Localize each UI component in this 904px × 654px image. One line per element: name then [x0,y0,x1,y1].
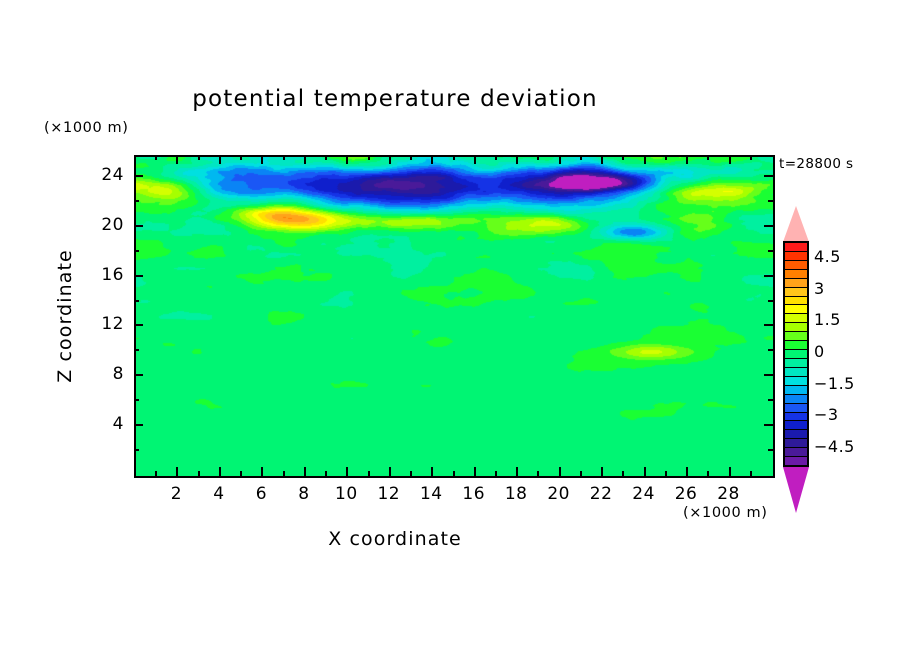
x-axis-title: X coordinate [0,528,790,550]
y-tick-right [764,374,773,376]
x-tick [219,467,221,476]
x-tick [601,467,603,476]
x-tick-top [368,155,370,160]
x-tick-top [389,155,391,164]
colorbar-band [785,350,807,359]
contour-field [136,157,773,476]
x-tick [261,467,263,476]
y-tick-label: 24 [78,165,124,185]
x-tick [474,467,476,476]
y-tick [134,324,143,326]
colorbar-tick-label: −4.5 [814,437,855,456]
x-tick-top [665,155,667,160]
y-tick-right [768,349,773,351]
x-tick-label: 18 [496,484,536,504]
x-tick-top [707,155,709,160]
x-tick-label: 10 [326,484,366,504]
x-tick [325,471,327,476]
x-tick [750,471,752,476]
x-tick-label: 28 [709,484,749,504]
colorbar-tick-label: 1.5 [814,310,841,329]
colorbar-band [785,413,807,422]
page-title: potential temperature deviation [0,86,790,112]
x-tick-label: 22 [581,484,621,504]
y-tick [134,399,139,401]
y-tick [134,225,143,227]
x-tick [495,471,497,476]
colorbar-tick-label: 4.5 [814,247,841,266]
colorbar-band [785,430,807,439]
y-tick [134,424,143,426]
colorbar-band [785,421,807,430]
x-tick-top [176,155,178,164]
colorbar-band [785,314,807,323]
y-tick [134,449,139,451]
y-tick-right [764,324,773,326]
x-tick [580,471,582,476]
x-tick [389,467,391,476]
colorbar-band [785,457,807,465]
x-tick [453,471,455,476]
colorbar-band [785,395,807,404]
x-axis-unit-label: (×1000 m) [683,505,768,521]
y-tick-right [768,399,773,401]
colorbar-band [785,377,807,386]
y-tick-right [768,250,773,252]
x-tick-label: 24 [624,484,664,504]
colorbar-band [785,279,807,288]
colorbar-band [785,404,807,413]
y-tick-right [764,275,773,277]
x-tick-top [622,155,624,160]
x-tick [240,471,242,476]
x-tick-top [580,155,582,160]
y-tick-right [768,200,773,202]
x-tick-top [559,155,561,164]
y-tick-label: 16 [78,265,124,285]
x-tick [155,471,157,476]
colorbar-band [785,359,807,368]
colorbar-tick-label: −1.5 [814,374,855,393]
x-tick [707,471,709,476]
colorbar [783,241,809,467]
x-tick-top [729,155,731,164]
x-tick [410,471,412,476]
x-tick-label: 6 [241,484,281,504]
y-tick [134,374,143,376]
x-tick-label: 4 [199,484,239,504]
y-tick-label: 12 [78,314,124,334]
x-tick-label: 16 [454,484,494,504]
x-tick [198,471,200,476]
y-tick [134,275,143,277]
x-tick-top [155,155,157,160]
x-tick [176,467,178,476]
x-tick-top [686,155,688,164]
x-tick [686,467,688,476]
x-tick-label: 14 [411,484,451,504]
x-tick-top [283,155,285,160]
colorbar-band [785,261,807,270]
x-tick-label: 2 [156,484,196,504]
x-tick-top [240,155,242,160]
x-tick-label: 26 [666,484,706,504]
colorbar-band [785,252,807,261]
colorbar-band [785,270,807,279]
x-tick-top [346,155,348,164]
y-tick-right [764,424,773,426]
colorbar-band [785,243,807,252]
y-tick-label: 8 [78,364,124,384]
y-tick [134,300,139,302]
colorbar-band [785,288,807,297]
x-tick-top [537,155,539,160]
y-axis-title: Z coordinate [54,206,76,426]
x-tick [283,471,285,476]
x-tick [346,467,348,476]
x-tick-top [325,155,327,160]
x-tick [559,467,561,476]
colorbar-band [785,305,807,314]
colorbar-tick-label: 3 [814,279,825,298]
y-tick-right [768,449,773,451]
x-tick-top [495,155,497,160]
x-tick-top [453,155,455,160]
x-tick [516,467,518,476]
x-tick-top [750,155,752,160]
x-tick [622,471,624,476]
x-tick-top [644,155,646,164]
colorbar-band [785,448,807,457]
x-tick-top [198,155,200,160]
x-tick-top [601,155,603,164]
colorbar-band [785,323,807,332]
colorbar-over-cap [783,206,809,242]
y-tick-right [764,175,773,177]
colorbar-band [785,368,807,377]
x-tick [644,467,646,476]
x-tick [304,467,306,476]
colorbar-band [785,386,807,395]
colorbar-band [785,341,807,350]
y-tick [134,200,139,202]
colorbar-under-cap [783,467,809,513]
colorbar-tick-label: 0 [814,342,825,361]
colorbar-band [785,439,807,448]
y-tick [134,349,139,351]
y-tick-label: 4 [78,414,124,434]
colorbar-band [785,297,807,306]
x-tick-label: 8 [284,484,324,504]
x-tick-top [474,155,476,164]
x-tick-top [261,155,263,164]
x-tick-top [219,155,221,164]
time-annotation: t=28800 s [779,156,853,172]
x-tick [537,471,539,476]
x-tick-top [431,155,433,164]
y-axis-unit-label: (×1000 m) [44,120,129,136]
x-tick [368,471,370,476]
x-tick [729,467,731,476]
contour-plot-area [134,155,775,478]
y-tick-label: 20 [78,215,124,235]
y-tick-right [768,300,773,302]
x-tick-top [410,155,412,160]
colorbar-tick-label: −3 [814,405,839,424]
x-tick-label: 12 [369,484,409,504]
x-tick-top [304,155,306,164]
y-tick-right [764,225,773,227]
x-tick [431,467,433,476]
x-tick [665,471,667,476]
y-tick [134,175,143,177]
x-tick-label: 20 [539,484,579,504]
x-tick-top [516,155,518,164]
colorbar-band [785,332,807,341]
y-tick [134,250,139,252]
